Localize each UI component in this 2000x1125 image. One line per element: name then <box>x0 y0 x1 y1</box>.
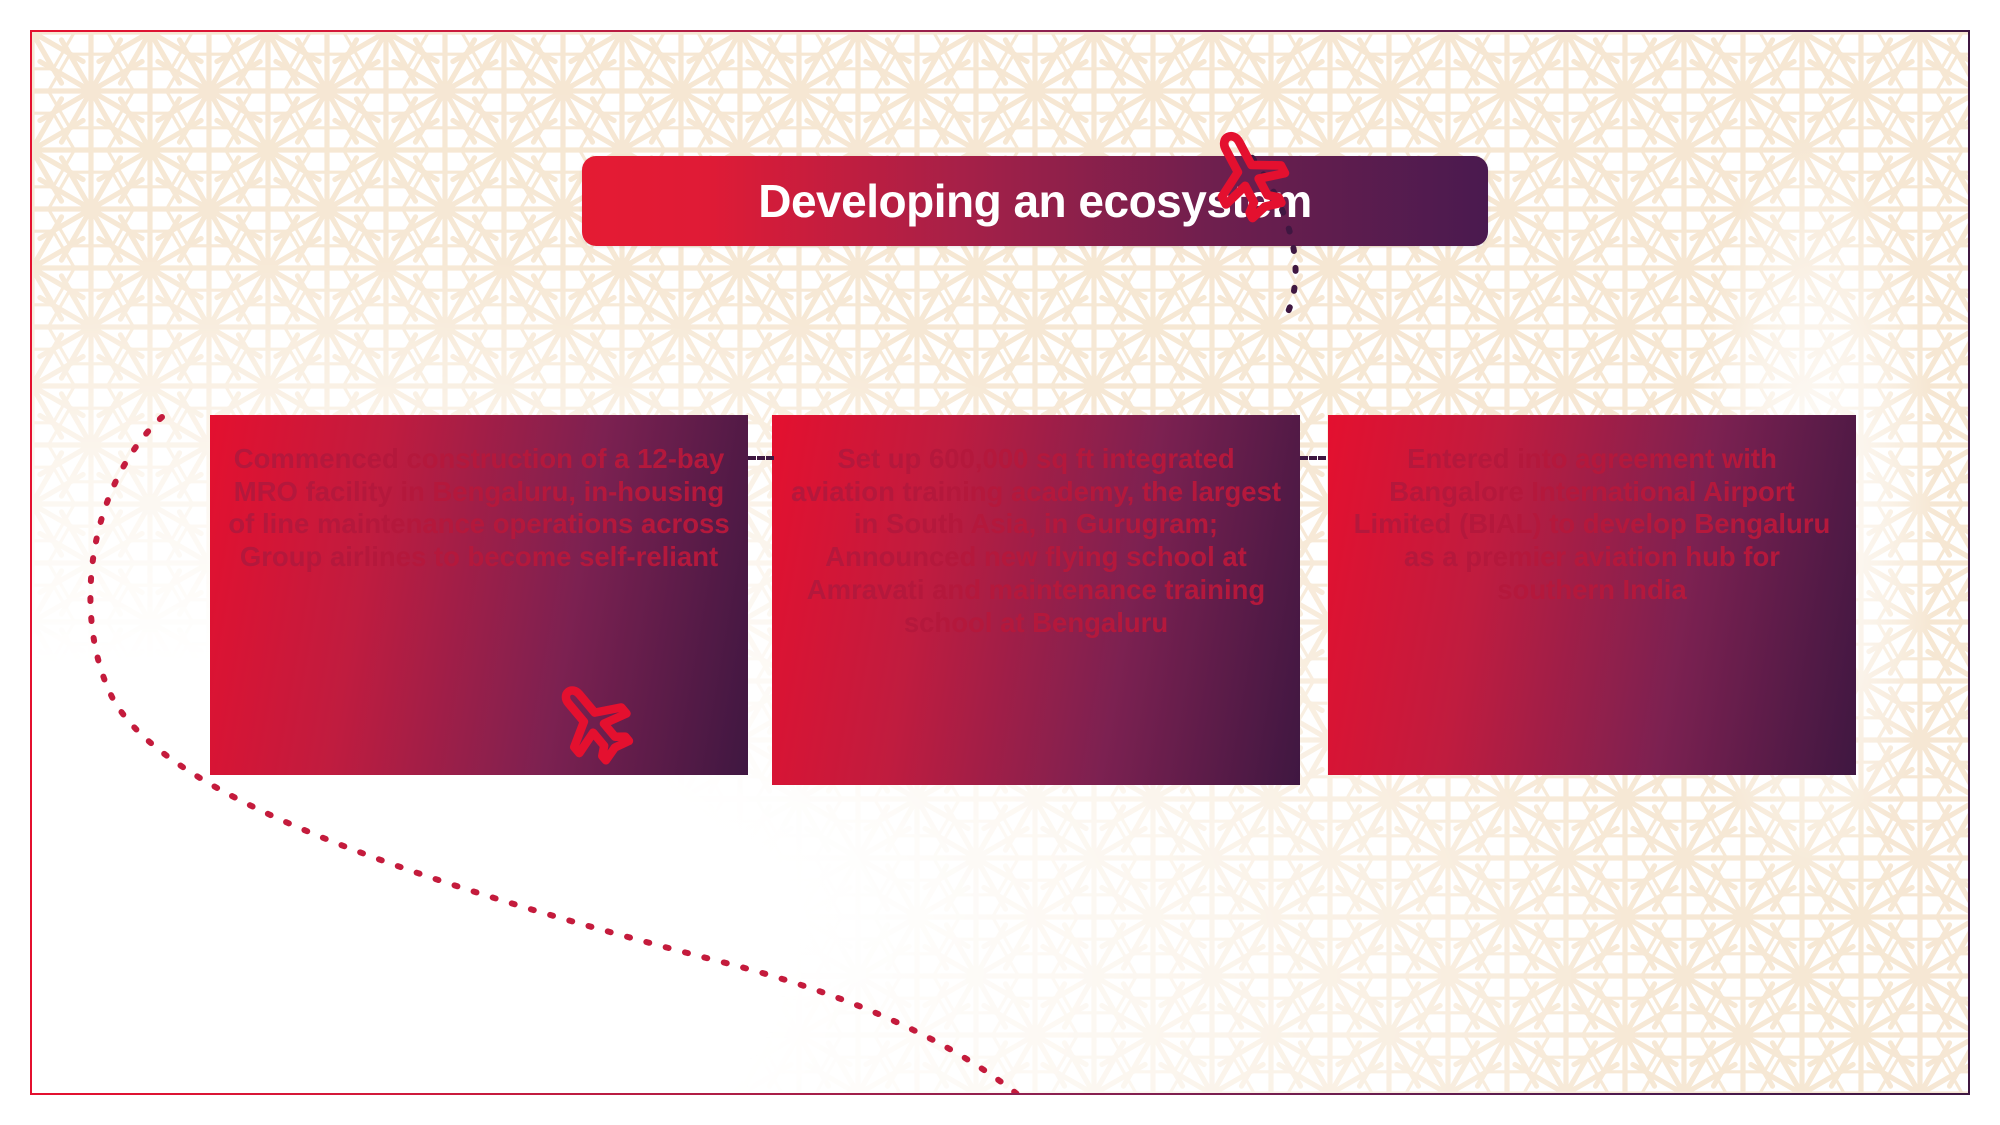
content-card-text: Entered into agreement with Bangalore In… <box>1330 417 1854 607</box>
slide-canvas: Developing an ecosystem Commenced constr… <box>0 0 2000 1125</box>
content-card-inner: Set up 600,000 sq ft integrated aviation… <box>774 417 1298 783</box>
content-card-inner: Commenced construction of a 12-bay MRO f… <box>212 417 746 773</box>
dashed-connector-icon <box>1300 456 1326 460</box>
content-card-text: Set up 600,000 sq ft integrated aviation… <box>774 417 1298 639</box>
dashed-connector-icon <box>748 456 774 460</box>
content-card-mro-facility[interactable]: Commenced construction of a 12-bay MRO f… <box>210 415 748 775</box>
slide-frame-inner: Developing an ecosystem Commenced constr… <box>32 32 1968 1093</box>
content-card-bial-agreement[interactable]: Entered into agreement with Bangalore In… <box>1328 415 1856 775</box>
slide-gradient-frame: Developing an ecosystem Commenced constr… <box>30 30 1970 1095</box>
content-card-training-academy[interactable]: Set up 600,000 sq ft integrated aviation… <box>772 415 1300 785</box>
slide-title-banner: Developing an ecosystem <box>582 156 1488 246</box>
content-card-inner: Entered into agreement with Bangalore In… <box>1330 417 1854 773</box>
content-card-text: Commenced construction of a 12-bay MRO f… <box>212 417 746 574</box>
page-title: Developing an ecosystem <box>758 178 1311 224</box>
